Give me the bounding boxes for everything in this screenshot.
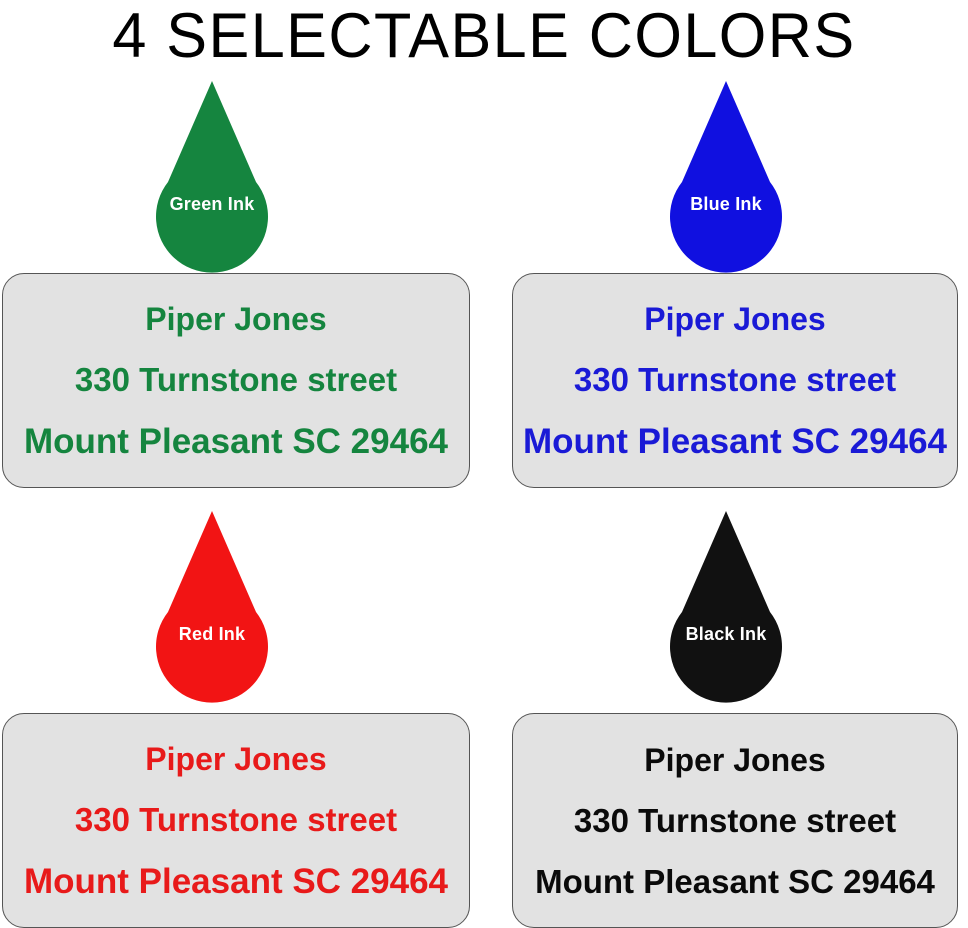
ink-drop-red: Red Ink [152, 508, 272, 688]
page-title: 4 SELECTABLE COLORS [15, 0, 954, 72]
ink-drop-icon [152, 508, 272, 688]
address-city: Mount Pleasant SC 29464 [535, 865, 935, 898]
address-name: Piper Jones [145, 303, 326, 335]
ink-drop-icon [666, 78, 786, 258]
drop-shape [156, 81, 268, 273]
address-city: Mount Pleasant SC 29464 [24, 864, 448, 899]
address-label-card-green: Piper Jones 330 Turnstone street Mount P… [2, 273, 470, 488]
address-name: Piper Jones [644, 303, 825, 335]
ink-drop-black: Black Ink [666, 508, 786, 688]
address-name: Piper Jones [644, 744, 825, 776]
address-name: Piper Jones [145, 743, 326, 775]
ink-drop-blue: Blue Ink [666, 78, 786, 258]
address-label-card-red: Piper Jones 330 Turnstone street Mount P… [2, 713, 470, 928]
ink-drop-icon [666, 508, 786, 688]
address-city: Mount Pleasant SC 29464 [24, 424, 448, 459]
address-city: Mount Pleasant SC 29464 [523, 424, 947, 459]
ink-drop-icon [152, 78, 272, 258]
address-street: 330 Turnstone street [75, 363, 397, 396]
ink-drop-green: Green Ink [152, 78, 272, 258]
address-street: 330 Turnstone street [75, 803, 397, 836]
address-street: 330 Turnstone street [574, 363, 896, 396]
drop-shape [156, 511, 268, 703]
drop-shape [670, 81, 782, 273]
address-label-card-blue: Piper Jones 330 Turnstone street Mount P… [512, 273, 958, 488]
address-street: 330 Turnstone street [574, 804, 896, 837]
drop-shape [670, 511, 782, 703]
address-label-card-black: Piper Jones 330 Turnstone street Mount P… [512, 713, 958, 928]
